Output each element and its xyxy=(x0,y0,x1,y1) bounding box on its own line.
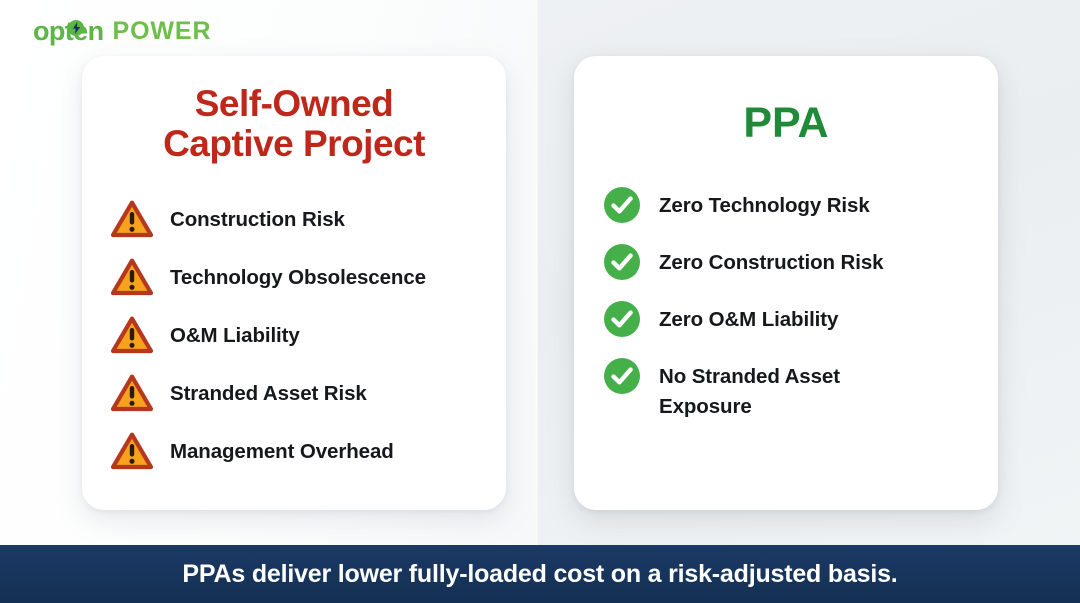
benefit-list: Zero Technology Risk Zero Construction R… xyxy=(574,184,998,420)
slide-canvas: opten POWER Self-Owned Captive Project xyxy=(0,0,1080,603)
list-item: Construction Risk xyxy=(109,197,506,241)
list-item: Stranded Asset Risk xyxy=(109,371,506,415)
warning-triangle-icon xyxy=(109,197,155,241)
list-item-label: No Stranded Asset Exposure xyxy=(659,355,919,420)
brand-wordmark-wrap: opten xyxy=(33,18,104,45)
list-item: Zero Construction Risk xyxy=(602,241,998,283)
list-item-label: Zero O&M Liability xyxy=(659,298,838,334)
list-item-label: Zero Technology Risk xyxy=(659,184,870,220)
card-self-owned-captive-project: Self-Owned Captive Project Construction … xyxy=(82,56,506,510)
list-item: Zero Technology Risk xyxy=(602,184,998,226)
lightning-bolt-icon xyxy=(68,20,84,36)
list-item-label: Stranded Asset Risk xyxy=(170,371,367,408)
list-item-label: Management Overhead xyxy=(170,429,394,466)
brand-logo: opten POWER xyxy=(33,14,211,48)
risk-list: Construction Risk Technology Obsolescenc… xyxy=(82,197,506,473)
warning-triangle-icon xyxy=(109,313,155,357)
check-circle-icon xyxy=(602,298,642,340)
list-item-label: Technology Obsolescence xyxy=(170,255,426,292)
warning-triangle-icon xyxy=(109,255,155,299)
check-circle-icon xyxy=(602,355,642,397)
list-item: No Stranded Asset Exposure xyxy=(602,355,998,420)
background-seam xyxy=(536,0,539,603)
card-left-title-line2: Captive Project xyxy=(112,124,476,164)
list-item-label: Construction Risk xyxy=(170,197,345,234)
list-item: O&M Liability xyxy=(109,313,506,357)
check-circle-icon xyxy=(602,184,642,226)
card-left-title-line1: Self-Owned xyxy=(112,84,476,124)
bottom-banner: PPAs deliver lower fully-loaded cost on … xyxy=(0,545,1080,603)
warning-triangle-icon xyxy=(109,371,155,415)
list-item: Zero O&M Liability xyxy=(602,298,998,340)
brand-name-secondary: POWER xyxy=(113,19,212,44)
card-left-title: Self-Owned Captive Project xyxy=(112,84,476,164)
list-item-label: Zero Construction Risk xyxy=(659,241,883,277)
banner-text: PPAs deliver lower fully-loaded cost on … xyxy=(182,562,897,587)
check-circle-icon xyxy=(602,241,642,283)
list-item: Technology Obsolescence xyxy=(109,255,506,299)
warning-triangle-icon xyxy=(109,429,155,473)
list-item-label: O&M Liability xyxy=(170,313,300,350)
list-item: Management Overhead xyxy=(109,429,506,473)
card-right-title: PPA xyxy=(604,100,968,146)
card-ppa: PPA Zero Technology Risk xyxy=(574,56,998,510)
